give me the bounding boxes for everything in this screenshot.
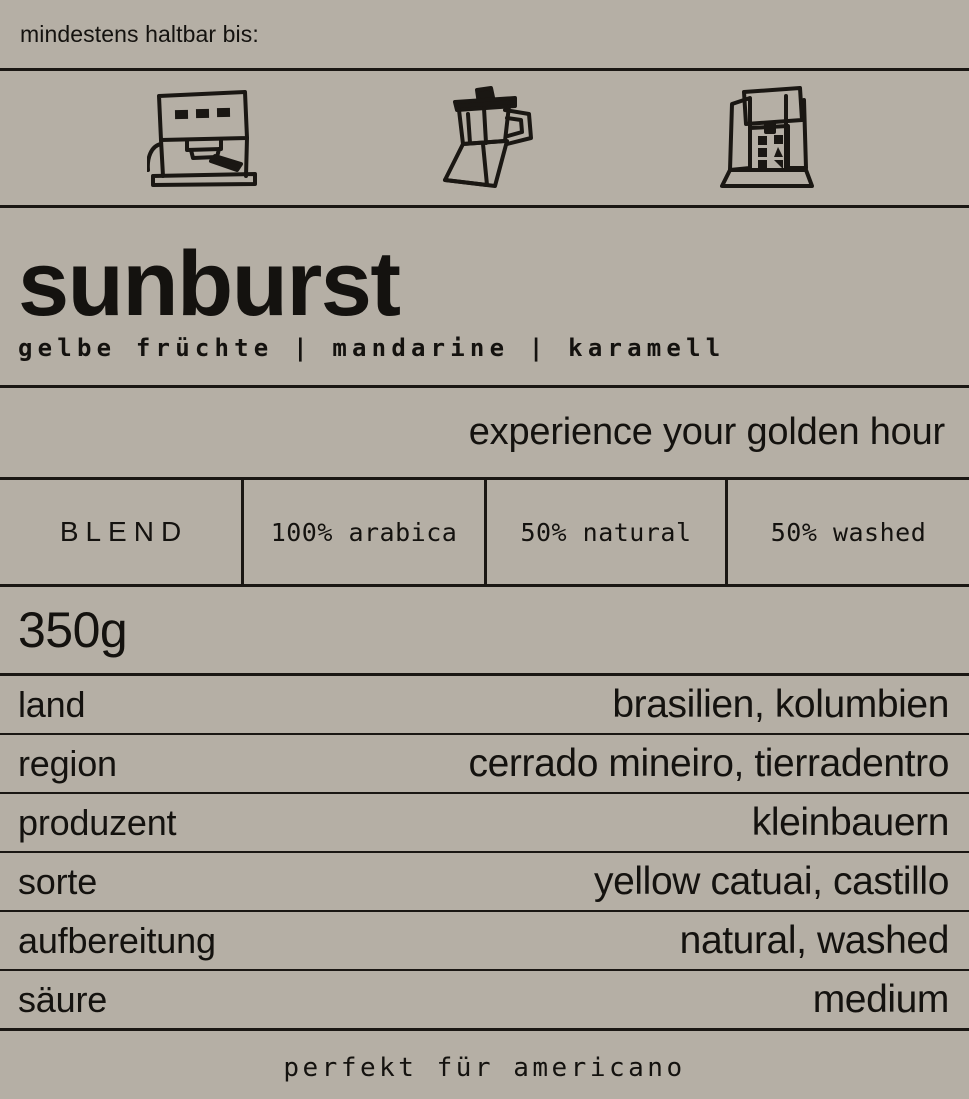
- spec-cell-washed: 50% washed: [728, 480, 969, 584]
- detail-label: region: [18, 743, 117, 785]
- detail-value: medium: [813, 978, 949, 1022]
- table-row: land brasilien, kolumbien: [0, 676, 969, 733]
- fully-automatic-coffee-machine-icon: [693, 86, 843, 190]
- espresso-machine-icon: [127, 88, 277, 188]
- weight-row: 350g: [0, 587, 969, 673]
- detail-value: natural, washed: [680, 919, 949, 963]
- tagline-text: experience your golden hour: [469, 411, 945, 454]
- spec-cell-natural: 50% natural: [487, 480, 728, 584]
- detail-label: sorte: [18, 861, 97, 903]
- best-before-row: mindestens haltbar bis:: [0, 0, 969, 68]
- brew-method-icon-row: [0, 71, 969, 205]
- detail-value: cerrado mineiro, tierradentro: [469, 742, 949, 786]
- table-row: aufbereitung natural, washed: [0, 912, 969, 969]
- detail-value: kleinbauern: [752, 801, 949, 845]
- brand-block: sunburst gelbe früchte | mandarine | kar…: [0, 208, 969, 385]
- spec-cell-variety: 100% arabica: [244, 480, 487, 584]
- footer-text: perfekt für americano: [283, 1053, 685, 1083]
- detail-label: aufbereitung: [18, 920, 216, 962]
- table-row: region cerrado mineiro, tierradentro: [0, 735, 969, 792]
- tasting-notes: gelbe früchte | mandarine | karamell: [18, 334, 969, 362]
- detail-label: säure: [18, 979, 107, 1021]
- table-row: produzent kleinbauern: [0, 794, 969, 851]
- weight-value: 350g: [18, 601, 127, 659]
- detail-label: land: [18, 684, 85, 726]
- detail-label: produzent: [18, 802, 176, 844]
- coffee-package-label: mindestens haltbar bis:: [0, 0, 969, 1099]
- table-row: sorte yellow catuai, castillo: [0, 853, 969, 910]
- footer-row: perfekt für americano: [0, 1031, 969, 1099]
- details-table: land brasilien, kolumbien region cerrado…: [0, 676, 969, 1028]
- brand-name: sunburst: [18, 241, 969, 328]
- table-row: säure medium: [0, 971, 969, 1028]
- detail-value: yellow catuai, castillo: [594, 860, 949, 904]
- spec-cell-blend: BLEND: [0, 480, 244, 584]
- best-before-label: mindestens haltbar bis:: [20, 21, 259, 48]
- blend-spec-row: BLEND 100% arabica 50% natural 50% washe…: [0, 480, 969, 584]
- tagline-row: experience your golden hour: [0, 388, 969, 477]
- detail-value: brasilien, kolumbien: [612, 683, 949, 727]
- moka-pot-icon: [410, 86, 560, 190]
